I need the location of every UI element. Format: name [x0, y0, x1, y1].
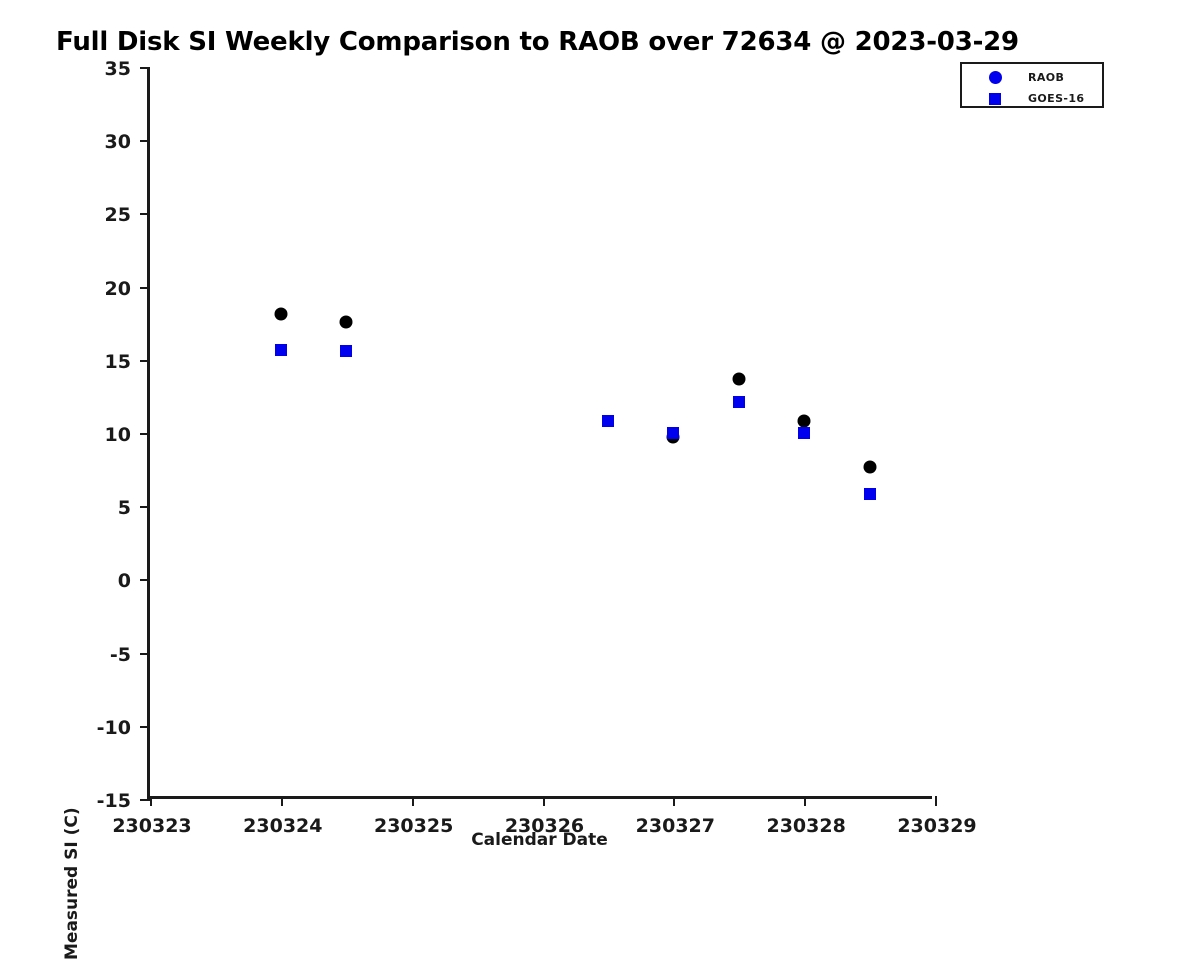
y-tick: -10: [140, 726, 150, 728]
data-point-goes-16: [275, 344, 287, 356]
data-point-goes-16: [733, 396, 745, 408]
y-tick-label: 10: [105, 424, 131, 446]
x-tick: 230327: [673, 796, 675, 806]
legend-label: RAOB: [1028, 71, 1064, 84]
y-tick: 5: [140, 506, 150, 508]
x-tick-label: 230328: [766, 815, 845, 837]
legend-item-raob[interactable]: RAOB: [962, 67, 1102, 88]
y-tick-label: 0: [118, 570, 131, 592]
x-tick: 230328: [804, 796, 806, 806]
x-tick: 230329: [935, 796, 937, 806]
y-tick: -5: [140, 653, 150, 655]
data-point-goes-16: [602, 415, 614, 427]
legend-circle-icon: [989, 71, 1002, 84]
y-tick: 10: [140, 433, 150, 435]
data-point-raob: [798, 415, 811, 428]
y-axis-title: Measured SI (C): [62, 0, 82, 960]
data-point-raob: [340, 315, 353, 328]
legend-swatch-wrap: [962, 71, 1028, 84]
y-tick: 20: [140, 287, 150, 289]
y-tick-label: 35: [105, 58, 131, 80]
legend-swatch-wrap: [962, 93, 1028, 105]
x-tick-label: 230327: [636, 815, 715, 837]
data-point-goes-16: [864, 488, 876, 500]
y-tick-label: -5: [110, 644, 131, 666]
legend-label: GOES-16: [1028, 92, 1085, 105]
x-tick: 230326: [543, 796, 545, 806]
y-tick-label: 25: [105, 204, 131, 226]
plot-area: 35302520151050-5-10-15 23032323032423032…: [147, 67, 932, 799]
y-tick: 35: [140, 67, 150, 69]
y-tick-label: 20: [105, 278, 131, 300]
data-point-raob: [274, 308, 287, 321]
y-tick-label: 30: [105, 131, 131, 153]
x-tick-label: 230329: [897, 815, 976, 837]
x-tick-label: 230323: [112, 815, 191, 837]
y-tick-label: -15: [97, 790, 131, 812]
legend-square-icon: [989, 93, 1001, 105]
x-tick: 230324: [281, 796, 283, 806]
x-tick-label: 230326: [505, 815, 584, 837]
data-point-goes-16: [667, 427, 679, 439]
y-tick-label: 15: [105, 351, 131, 373]
y-tick: 15: [140, 360, 150, 362]
chart-legend: RAOBGOES-16: [960, 62, 1104, 108]
y-tick: -15: [140, 799, 150, 801]
x-tick-label: 230325: [374, 815, 453, 837]
y-tick: 25: [140, 213, 150, 215]
data-point-goes-16: [340, 345, 352, 357]
data-point-goes-16: [798, 427, 810, 439]
x-tick: 230325: [412, 796, 414, 806]
legend-item-goes-16[interactable]: GOES-16: [962, 88, 1102, 109]
y-tick: 30: [140, 140, 150, 142]
data-point-raob: [732, 372, 745, 385]
x-tick: 230323: [150, 796, 152, 806]
y-tick: 0: [140, 579, 150, 581]
y-tick-label: -10: [97, 717, 131, 739]
data-point-raob: [863, 460, 876, 473]
scatter-chart: Full Disk SI Weekly Comparison to RAOB o…: [0, 0, 1200, 900]
chart-title: Full Disk SI Weekly Comparison to RAOB o…: [0, 27, 1075, 57]
x-tick-label: 230324: [243, 815, 322, 837]
y-tick-label: 5: [118, 497, 131, 519]
